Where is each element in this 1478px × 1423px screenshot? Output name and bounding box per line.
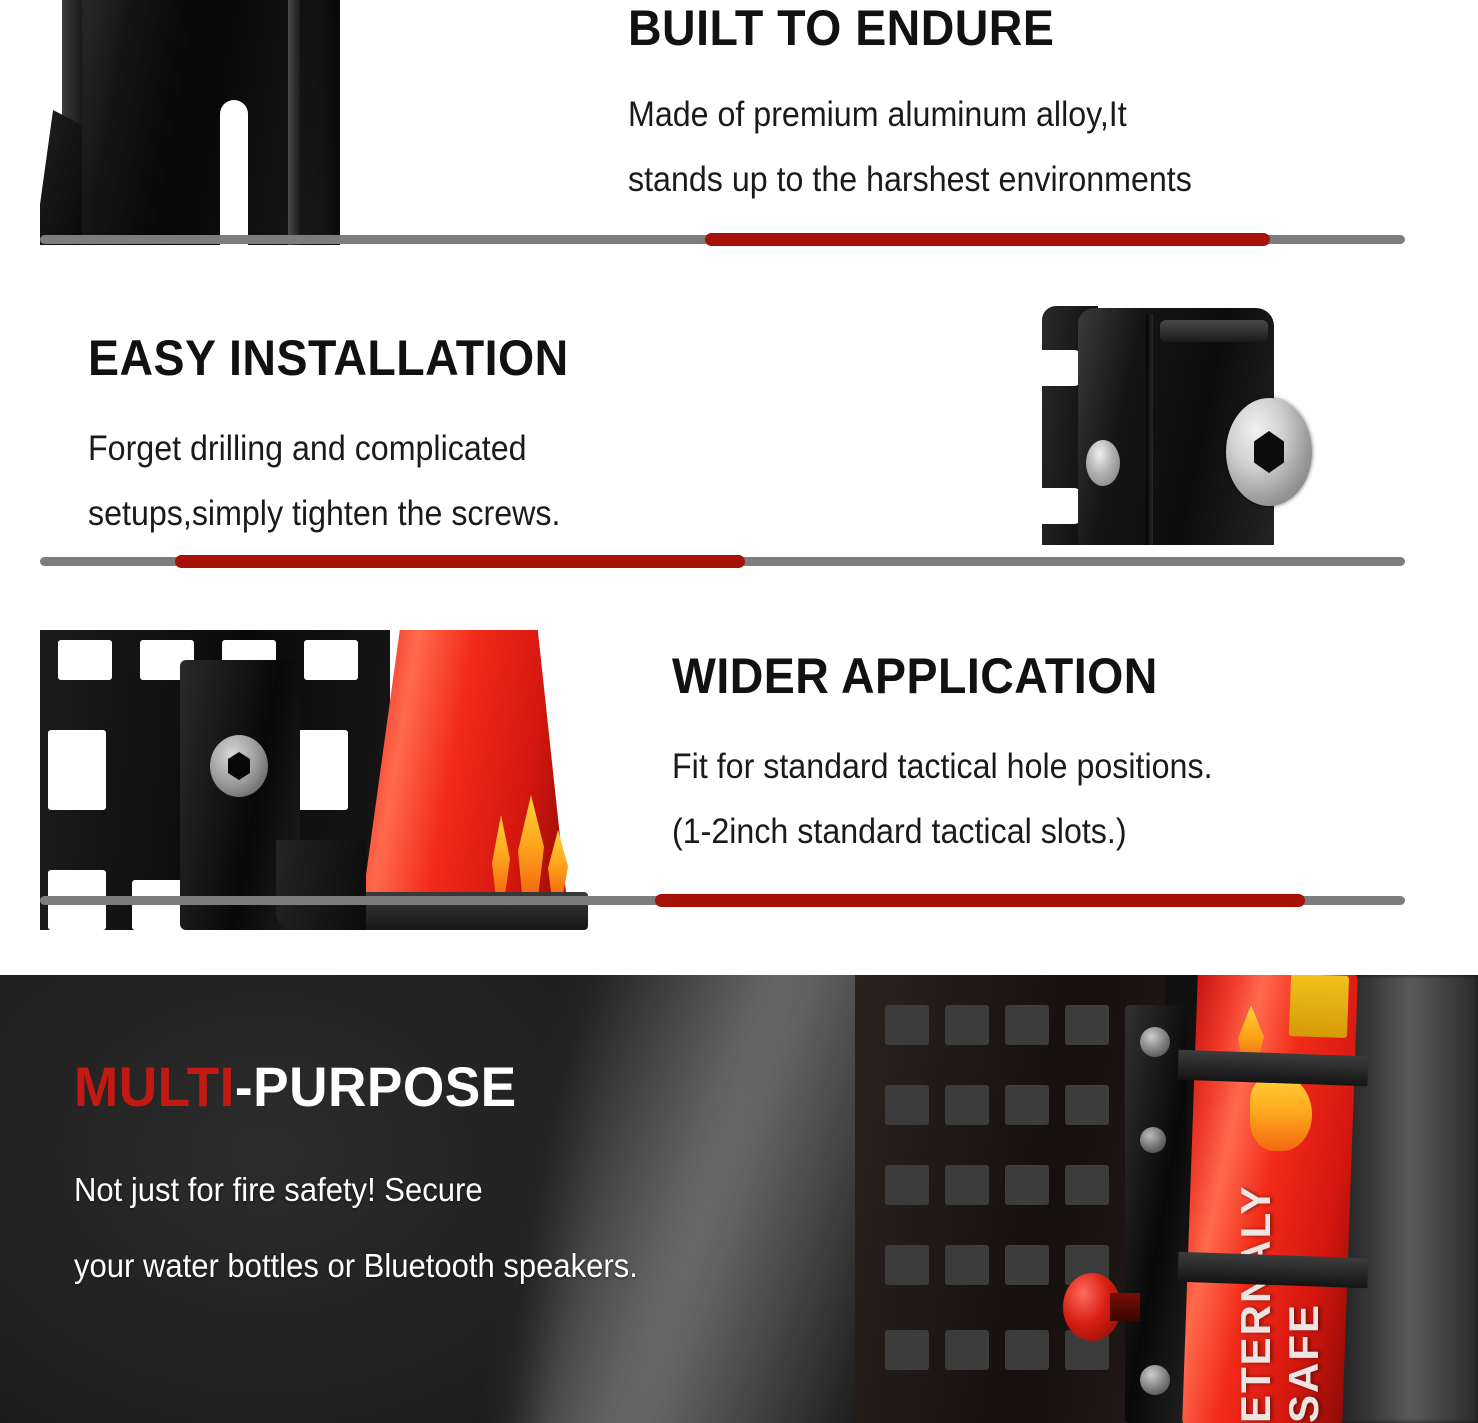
feature-2-body-line-2: setups,simply tighten the screws.: [88, 496, 564, 532]
feature-2-photo: [1040, 300, 1478, 545]
feature-3-text: WIDER APPLICATION Fit for standard tacti…: [672, 650, 1260, 850]
divider-1-accent: [705, 233, 1270, 246]
molle-slot: [304, 640, 358, 680]
divider-3: [40, 894, 1405, 907]
feature-built-to-endure: BUILT TO ENDURE Made of premium aluminum…: [0, 0, 1478, 262]
feature-1-body-line-1: Made of premium aluminum alloy,It: [628, 97, 1192, 133]
divider-2: [40, 555, 1405, 568]
hero-body-line-1: Not just for fire safety! Secure: [74, 1173, 638, 1207]
extinguisher-cradle: [276, 840, 366, 930]
mount-notch-bottom: [1042, 488, 1082, 524]
hero-text-block: MULTI-PURPOSE Not just for fire safety! …: [74, 1059, 674, 1284]
feature-wider-application: WIDER APPLICATION Fit for standard tacti…: [0, 582, 1478, 975]
feature-3-heading: WIDER APPLICATION: [672, 650, 1218, 703]
molle-slot: [945, 1085, 989, 1125]
feature-easy-installation: EASY INSTALLATION Forget drilling and co…: [0, 262, 1478, 582]
molle-slot: [1005, 1005, 1049, 1045]
feature-1-body-line-2: stands up to the harshest environments: [628, 162, 1192, 198]
molle-slot: [48, 730, 106, 810]
hero-multi-purpose: ETERNALY SAFE MULTI-PURPOSE Not just for…: [0, 975, 1478, 1423]
molle-slot: [1065, 1085, 1109, 1125]
molle-slot: [1005, 1330, 1049, 1370]
molle-slot: [885, 1245, 929, 1285]
hex-socket-bolt: [1226, 398, 1312, 506]
molle-slot: [58, 640, 112, 680]
molle-slot: [945, 1245, 989, 1285]
divider-1: [40, 233, 1405, 246]
hero-body-line-2: your water bottles or Bluetooth speakers…: [74, 1249, 638, 1283]
bracket-edge-highlight: [288, 0, 300, 245]
mount-notch-top: [1042, 350, 1082, 386]
molle-slot: [1005, 1245, 1049, 1285]
hero-extinguisher-label-badge: [1289, 975, 1349, 1038]
feature-3-body-line-1: Fit for standard tactical hole positions…: [672, 749, 1213, 785]
hero-molle-panel: [855, 975, 1165, 1423]
divider-3-accent: [655, 894, 1305, 907]
molle-slot: [885, 1165, 929, 1205]
bracket-slot: [220, 100, 248, 245]
feature-3-body-line-2: (1-2inch standard tactical slots.): [672, 814, 1213, 850]
molle-slot: [1065, 1165, 1109, 1205]
feature-1-text: BUILT TO ENDURE Made of premium aluminum…: [628, 0, 1241, 198]
molle-slot: [885, 1005, 929, 1045]
molle-slot: [945, 1330, 989, 1370]
product-infographic: BUILT TO ENDURE Made of premium aluminum…: [0, 0, 1478, 1423]
mount-top-ridge: [1160, 320, 1268, 342]
divider-2-accent: [175, 555, 745, 568]
hero-rail-screw: [1140, 1027, 1170, 1057]
feature-2-body-line-1: Forget drilling and complicated: [88, 431, 564, 467]
molle-slot: [1005, 1165, 1049, 1205]
molle-slot: [885, 1085, 929, 1125]
molle-slot: [945, 1165, 989, 1205]
mount-groove: [1146, 314, 1153, 545]
molle-slot: [885, 1330, 929, 1370]
hero-heading: MULTI-PURPOSE: [74, 1059, 644, 1115]
red-release-knob-shaft: [1110, 1293, 1140, 1321]
feature-1-heading: BUILT TO ENDURE: [628, 2, 1198, 55]
feature-2-heading: EASY INSTALLATION: [88, 332, 569, 385]
molle-slot: [1065, 1005, 1109, 1045]
hero-rail-screw: [1140, 1365, 1170, 1395]
hero-heading-highlight: MULTI: [74, 1055, 235, 1118]
feature-1-photo: [40, 0, 600, 245]
mount-small-screw: [1086, 440, 1120, 486]
hero-rail-screw: [1140, 1127, 1166, 1153]
molle-slot: [1005, 1085, 1049, 1125]
bracket-body: [82, 0, 340, 245]
hero-heading-rest: -PURPOSE: [235, 1055, 517, 1118]
feature-2-text: EASY INSTALLATION Forget drilling and co…: [88, 332, 605, 532]
feature-3-photo: [40, 630, 640, 930]
molle-slot: [945, 1005, 989, 1045]
